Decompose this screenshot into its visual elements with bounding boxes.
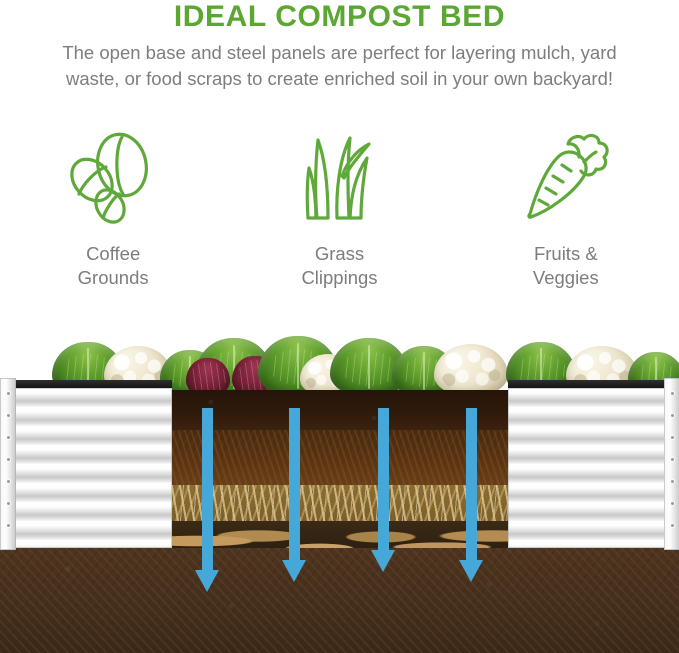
layer-compost-mulch [170, 430, 510, 485]
feature-label-line1: Fruits & [533, 242, 599, 266]
plant-cauliflower [434, 344, 508, 396]
feature-fruits-veggies: Fruits & Veggies [453, 128, 679, 303]
header-section: IDEAL COMPOST BED The open base and stee… [0, 0, 679, 120]
feature-label-veggies: Fruits & Veggies [533, 242, 599, 290]
page-title: IDEAL COMPOST BED [0, 0, 679, 34]
coffee-beans-icon [65, 128, 161, 228]
feature-icon-row: Coffee Grounds Grass Clippings [0, 128, 679, 303]
feature-label-coffee: Coffee Grounds [78, 242, 149, 290]
feature-grass-clippings: Grass Clippings [226, 128, 452, 303]
product-feature-page: IDEAL COMPOST BED The open base and stee… [0, 0, 679, 653]
corner-post-right [664, 378, 679, 550]
feature-coffee-grounds: Coffee Grounds [0, 128, 226, 303]
ground-soil [0, 548, 679, 653]
corner-post-left [0, 378, 16, 550]
page-subtitle: The open base and steel panels are perfe… [40, 40, 640, 92]
carrot-icon [518, 128, 614, 228]
corrugated-surface-right [508, 388, 666, 548]
steel-panel-left [14, 388, 172, 548]
layer-topsoil [170, 390, 510, 430]
feature-label-grass: Grass Clippings [301, 242, 377, 290]
grass-blades-icon [295, 128, 383, 228]
feature-label-line2: Veggies [533, 266, 599, 290]
feature-label-line2: Clippings [301, 266, 377, 290]
product-hero-image [0, 330, 679, 653]
steel-panel-right [508, 388, 666, 548]
feature-label-line1: Grass [301, 242, 377, 266]
feature-label-line2: Grounds [78, 266, 149, 290]
feature-label-line1: Coffee [78, 242, 149, 266]
corrugated-surface-left [14, 388, 172, 548]
